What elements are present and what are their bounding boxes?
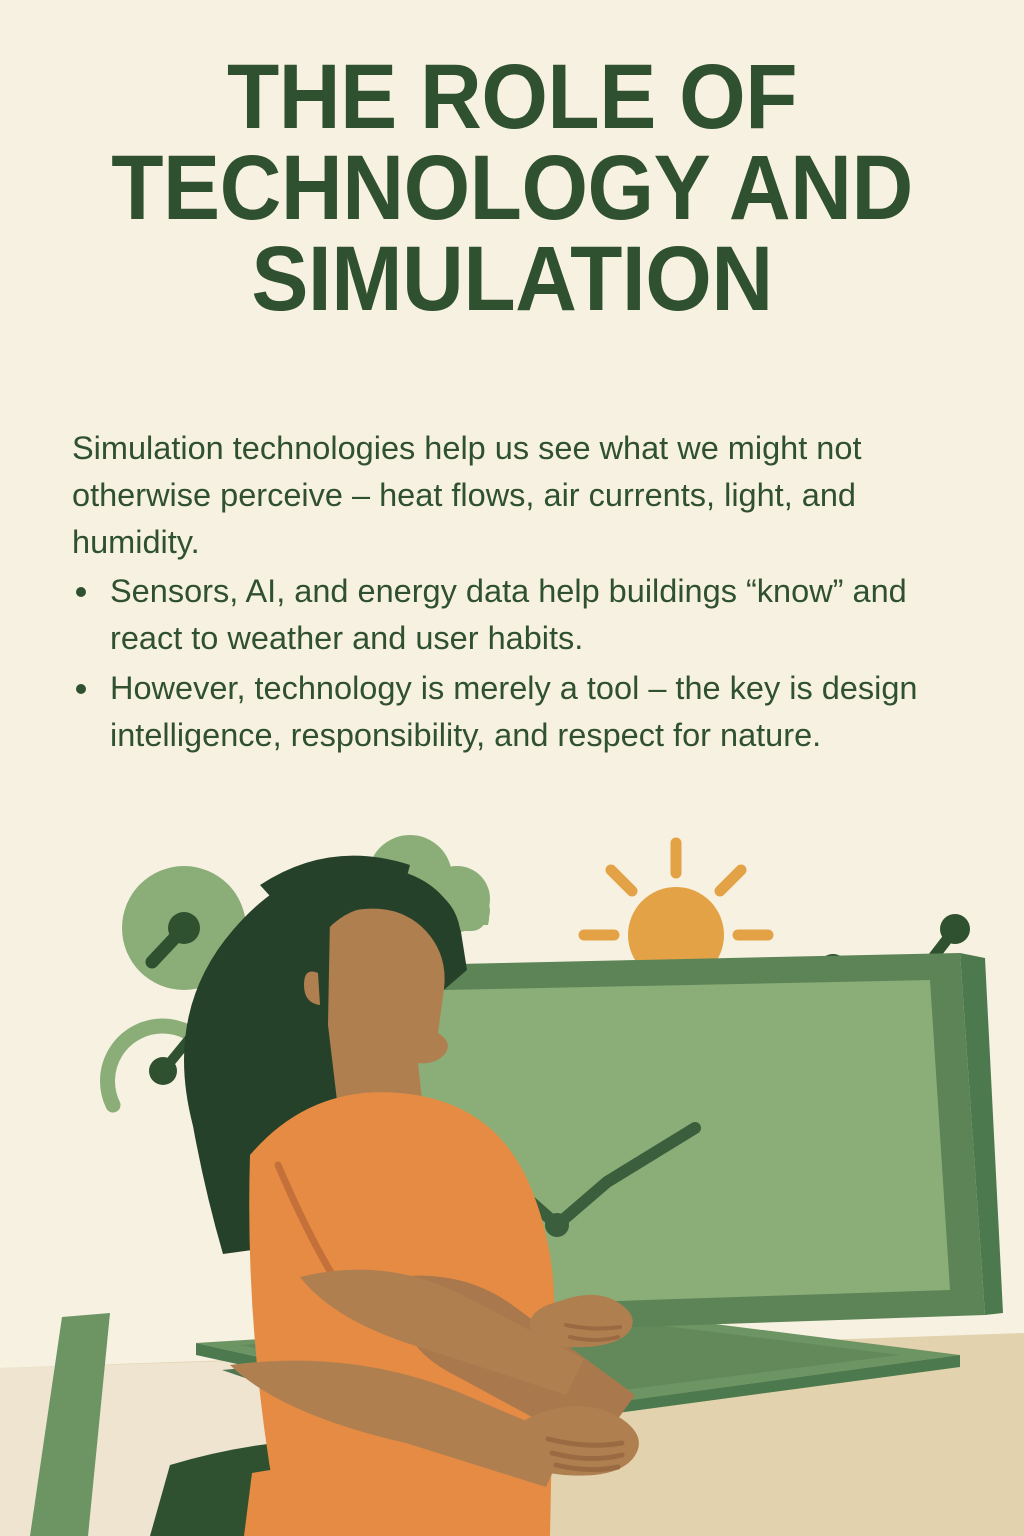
- bullet-dot-icon: [76, 684, 86, 694]
- intro-paragraph: Simulation technologies help us see what…: [72, 425, 942, 566]
- list-item-label: Sensors, AI, and energy data help buildi…: [110, 573, 907, 656]
- list-item: Sensors, AI, and energy data help buildi…: [68, 568, 968, 662]
- list-item: However, technology is merely a tool – t…: [68, 665, 968, 759]
- poster: THE ROLE OF TECHNOLOGY AND SIMULATION Si…: [0, 0, 1024, 1536]
- title-line-1: THE ROLE OF: [36, 52, 988, 143]
- bullet-list: Sensors, AI, and energy data help buildi…: [68, 568, 968, 762]
- page-title: THE ROLE OF TECHNOLOGY AND SIMULATION: [36, 52, 988, 325]
- list-item-label: However, technology is merely a tool – t…: [110, 670, 918, 753]
- illustration: [0, 825, 1024, 1536]
- title-line-3: SIMULATION: [36, 234, 988, 325]
- bullet-dot-icon: [76, 587, 86, 597]
- title-line-2: TECHNOLOGY AND: [36, 143, 988, 234]
